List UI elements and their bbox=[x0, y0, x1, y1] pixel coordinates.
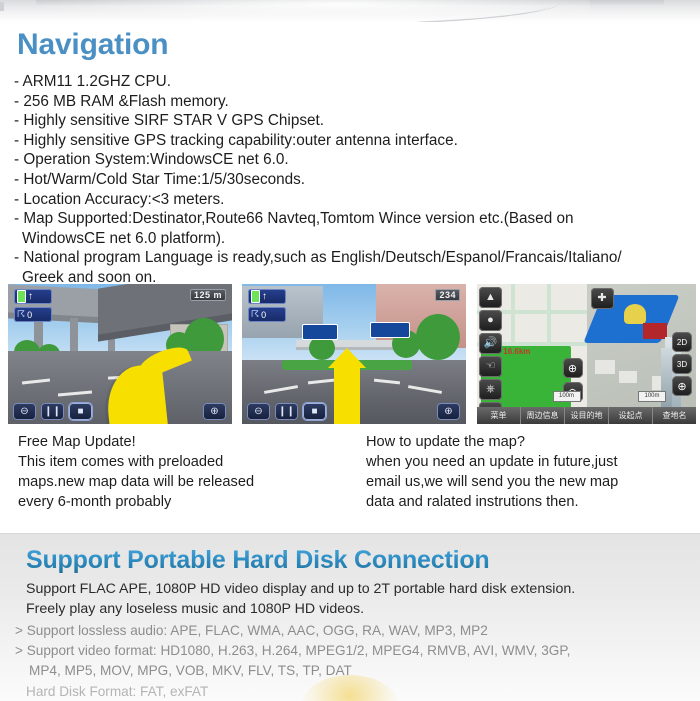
view-3d-toggle[interactable]: 3D bbox=[672, 354, 692, 374]
satellite-icon: ☈ bbox=[17, 309, 25, 320]
city-block bbox=[619, 371, 637, 383]
hard-disk-lead-line: Support FLAC APE, 1080P HD video display… bbox=[26, 580, 686, 600]
map-update-line: How to update the map? bbox=[366, 432, 696, 452]
zoom-in-icon[interactable]: ⊕ bbox=[437, 403, 460, 420]
photo-left-nub bbox=[0, 2, 4, 11]
spec-item: - Highly sensitive SIRF STAR V GPS Chips… bbox=[14, 111, 686, 131]
screenshot-map-view: 16.6km ▲ ● 🔊 ☜ ⎈ ⎋ ⊕ ⊖ 100m bbox=[477, 284, 696, 424]
satellite-status-sign: ☈ 0 bbox=[248, 307, 286, 322]
screenshot-street-view: ↑ ☈ 0 234 ⊖ ❙❙ ■ ⊕ bbox=[242, 284, 466, 424]
search-place-button[interactable]: 查地名 bbox=[653, 407, 696, 424]
compass-icon[interactable]: ▲ bbox=[479, 287, 502, 308]
car-icon[interactable]: ⎈ bbox=[479, 379, 502, 400]
distance-sign: 234 bbox=[435, 289, 460, 301]
pause-icon[interactable]: ❙❙ bbox=[41, 403, 64, 420]
hard-disk-bullet-continuation: MP4, MP5, MOV, MPG, VOB, MKV, FLV, TS, T… bbox=[15, 661, 687, 681]
map-3d: ✚ 2D 3D ⊕ 100m bbox=[587, 284, 697, 424]
battery-status-sign: ↑ bbox=[248, 289, 286, 304]
playback-controls[interactable]: ⊖ ❙❙ ■ bbox=[247, 403, 326, 420]
stop-icon[interactable]: ■ bbox=[303, 403, 326, 420]
map-2d: 16.6km ▲ ● 🔊 ☜ ⎈ ⎋ ⊕ ⊖ 100m bbox=[477, 284, 587, 424]
tree bbox=[416, 314, 460, 360]
volume-icon[interactable]: 🔊 bbox=[479, 333, 502, 354]
hard-disk-bullets: > Support lossless audio: APE, FLAC, WMA… bbox=[15, 621, 687, 681]
set-start-button[interactable]: 设起点 bbox=[609, 407, 653, 424]
view-2d-toggle[interactable]: 2D bbox=[672, 332, 692, 352]
hard-disk-format-line: Hard Disk Format: FAT, exFAT bbox=[26, 684, 208, 699]
battery-icon bbox=[17, 290, 26, 303]
road-sign-blue bbox=[302, 324, 338, 340]
spec-item: - Map Supported:Destinator,Route66 Navte… bbox=[14, 209, 686, 229]
map-scale-2d: 100m bbox=[553, 391, 581, 402]
playback-controls[interactable]: ⊖ ❙❙ ■ bbox=[13, 403, 92, 420]
map-update-left-column: Free Map Update! This item comes with pr… bbox=[18, 432, 348, 512]
map-update-line: every 6-month probably bbox=[18, 492, 348, 512]
spec-item: - Operation System:WindowsCE net 6.0. bbox=[14, 150, 686, 170]
navigation-heading: Navigation bbox=[17, 28, 168, 62]
spec-item: - Highly sensitive GPS tracking capabili… bbox=[14, 131, 686, 151]
hand-icon[interactable]: ☜ bbox=[479, 356, 502, 377]
up-arrow-icon: ↑ bbox=[28, 292, 33, 302]
battery-icon bbox=[251, 290, 260, 303]
map-update-line: when you need an update in future,just bbox=[366, 452, 696, 472]
spec-item-continuation: WindowsCE net 6.0 platform). bbox=[14, 229, 686, 249]
satellite-count: 0 bbox=[261, 310, 266, 320]
navigation-screenshot-row: ↑ ☈ 0 125 m ⊖ ❙❙ ■ ⊕ bbox=[8, 284, 696, 424]
zoom-out-icon[interactable]: ⊖ bbox=[247, 403, 270, 420]
map-zoom-in-icon[interactable]: ⊕ bbox=[672, 376, 692, 396]
hard-disk-bullet: > Support video format: HD1080, H.263, H… bbox=[15, 641, 687, 661]
battery-status-sign: ↑ bbox=[14, 289, 52, 304]
route-arrow-head bbox=[328, 348, 366, 368]
navigation-spec-list: - ARM11 1.2GHZ CPU. - 256 MB RAM &Flash … bbox=[14, 72, 686, 288]
hard-disk-bullet: > Support lossless audio: APE, FLAC, WMA… bbox=[15, 621, 687, 641]
hard-disk-lead-line: Freely play any loseless music and 1080P… bbox=[26, 600, 686, 620]
satellite-status-sign: ☈ 0 bbox=[14, 307, 52, 322]
map-north-icon[interactable]: ✚ bbox=[591, 288, 614, 309]
menu-button[interactable]: 菜单 bbox=[477, 407, 521, 424]
map-update-line: maps.new map data will be released bbox=[18, 472, 348, 492]
spec-item: - Location Accuracy:<3 meters. bbox=[14, 190, 686, 210]
gps-icon[interactable]: ● bbox=[479, 310, 502, 331]
map-update-line: email us,we will send you the new map bbox=[366, 472, 696, 492]
spec-item: - 256 MB RAM &Flash memory. bbox=[14, 92, 686, 112]
zoom-out-icon[interactable]: ⊖ bbox=[13, 403, 36, 420]
hard-disk-heading: Support Portable Hard Disk Connection bbox=[26, 546, 489, 575]
set-destination-button[interactable]: 设目的地 bbox=[565, 407, 609, 424]
map-update-line: Free Map Update! bbox=[18, 432, 348, 452]
satellite-count: 0 bbox=[27, 310, 32, 320]
pause-icon[interactable]: ❙❙ bbox=[275, 403, 298, 420]
distance-sign: 125 m bbox=[190, 289, 226, 301]
map-tool-column[interactable]: ▲ ● 🔊 ☜ ⎈ ⎋ bbox=[479, 287, 503, 424]
stop-icon[interactable]: ■ bbox=[69, 403, 92, 420]
spec-item: - National program Language is ready,suc… bbox=[14, 248, 686, 268]
screenshot-highway-view: ↑ ☈ 0 125 m ⊖ ❙❙ ■ ⊕ bbox=[8, 284, 232, 424]
route-arrow-shaft bbox=[334, 366, 360, 424]
city-block bbox=[595, 360, 615, 374]
nearby-info-button[interactable]: 周边信息 bbox=[521, 407, 565, 424]
landmark-dome bbox=[624, 304, 646, 324]
satellite-icon: ☈ bbox=[251, 309, 259, 320]
product-photo-strip bbox=[0, 0, 700, 22]
spec-item: - Hot/Warm/Cold Star Time:1/5/30seconds. bbox=[14, 170, 686, 190]
map-update-line: This item comes with preloaded bbox=[18, 452, 348, 472]
hard-disk-lead: Support FLAC APE, 1080P HD video display… bbox=[26, 580, 686, 619]
product-description-page: Navigation - ARM11 1.2GHZ CPU. - 256 MB … bbox=[0, 0, 700, 700]
spec-item: - ARM11 1.2GHZ CPU. bbox=[14, 72, 686, 92]
road-sign-blue bbox=[370, 322, 410, 338]
map-bottom-toolbar[interactable]: 菜单 周边信息 设目的地 设起点 查地名 bbox=[477, 407, 696, 424]
map-distance-label: 16.6km bbox=[503, 347, 530, 356]
map-scale-3d: 100m bbox=[638, 391, 666, 402]
map-update-line: data and ralated instrutions then. bbox=[366, 492, 696, 512]
map-zoom-in-icon[interactable]: ⊕ bbox=[563, 358, 583, 378]
map-update-right-column: How to update the map? when you need an … bbox=[366, 432, 696, 512]
zoom-in-icon[interactable]: ⊕ bbox=[203, 403, 226, 420]
up-arrow-icon: ↑ bbox=[262, 292, 267, 302]
hard-disk-section: Support Portable Hard Disk Connection Su… bbox=[0, 533, 700, 701]
